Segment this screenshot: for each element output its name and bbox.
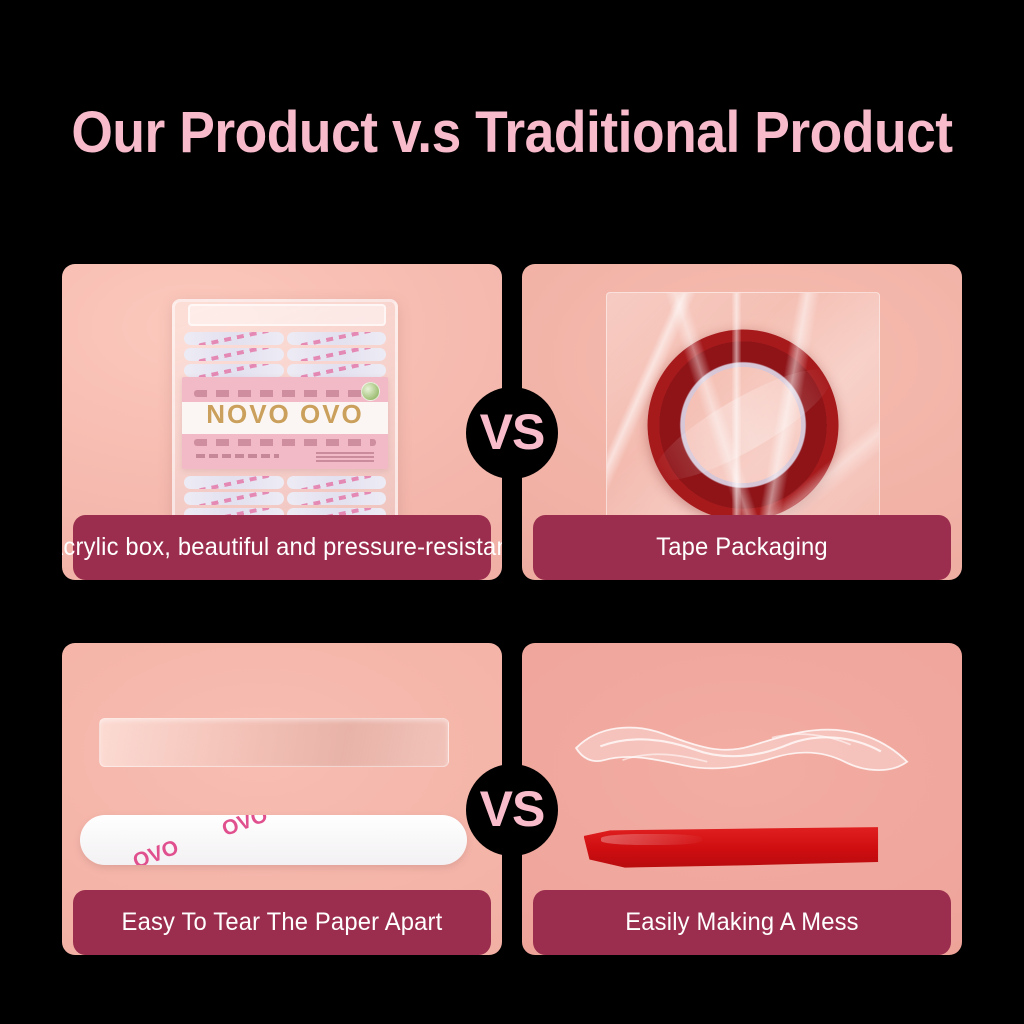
label-script-line-bottom [194, 439, 376, 446]
vs-label-top: VS [480, 407, 545, 457]
white-adhesive-strip: OVO OVO OVO OVO [80, 815, 467, 865]
brand-logo-icon [361, 382, 380, 401]
vs-label-bottom: VS [480, 784, 545, 834]
label-fine-print-right [316, 452, 374, 462]
product-label-band: NOVO OVO [182, 377, 389, 469]
red-tape-strip [584, 827, 879, 868]
page-title: Our Product v.s Traditional Product [41, 104, 983, 162]
panel-easy-tear[interactable]: OVO OVO OVO OVO Easy To Tear The Paper A… [62, 643, 502, 955]
caption-easy-tear: Easy To Tear The Paper Apart [73, 890, 491, 955]
crumpled-clear-tape [570, 712, 913, 781]
red-tape-sheen [601, 834, 701, 845]
ovo-mark: OVO [219, 815, 270, 840]
vs-badge-top: VS [466, 387, 558, 479]
ovo-branding-marks: OVO OVO OVO OVO [125, 815, 459, 865]
caption-acrylic-box: Acrylic box, beautiful and pressure-resi… [73, 515, 491, 580]
panel-acrylic-box[interactable]: NOVO OVO Acrylic box, beautiful and pres… [62, 264, 502, 580]
label-script-line-top [194, 390, 376, 397]
brand-name-text: NOVO OVO [182, 401, 389, 427]
panel-making-mess[interactable]: Easily Making A Mess [522, 643, 962, 955]
infographic-canvas: Our Product v.s Traditional Product [0, 0, 1024, 1024]
vs-badge-bottom: VS [466, 764, 558, 856]
clear-tape-strip [99, 718, 449, 767]
label-fine-print-left [196, 454, 279, 458]
ovo-mark: OVO [130, 837, 181, 865]
acrylic-box-lid [188, 304, 386, 325]
panel-tape-packaging[interactable]: Tape Packaging [522, 264, 962, 580]
caption-making-mess: Easily Making A Mess [533, 890, 951, 955]
caption-tape-packaging: Tape Packaging [533, 515, 951, 580]
